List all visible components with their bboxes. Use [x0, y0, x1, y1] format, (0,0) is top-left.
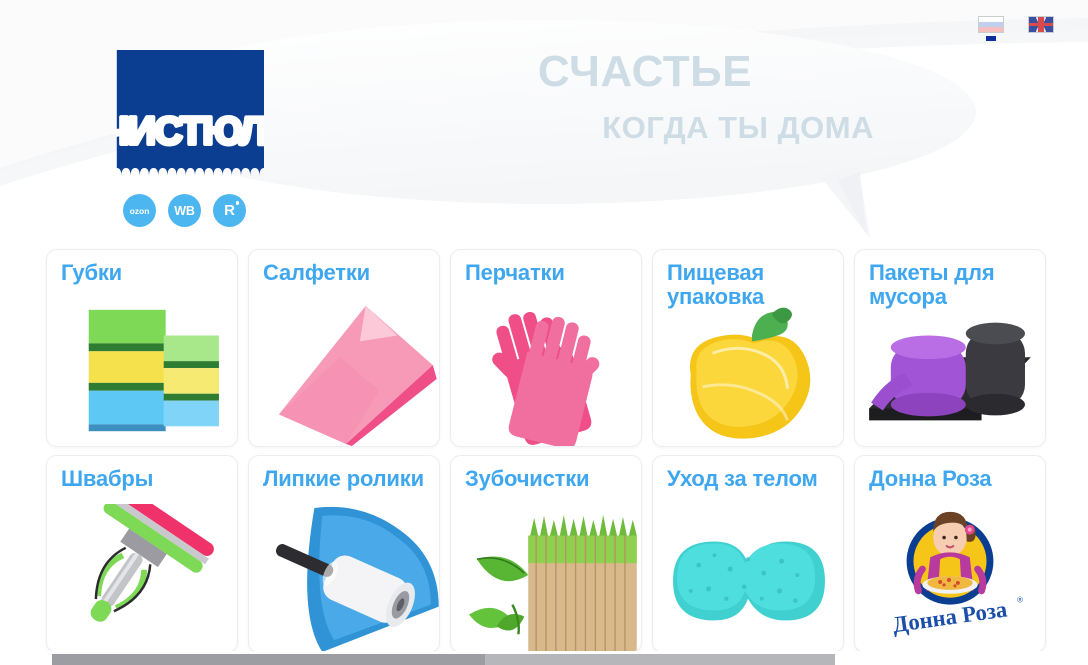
registered-mark: ®	[1017, 596, 1023, 605]
scrollbar-thumb[interactable]	[52, 654, 485, 665]
badge-wb-icon[interactable]: WB	[168, 194, 201, 227]
category-card-food-wrap[interactable]: Пищевая упаковка	[652, 249, 844, 447]
category-title: Зубочистки	[465, 467, 633, 491]
category-card-napkins[interactable]: Салфетки	[248, 249, 440, 447]
badge-r-letter: R	[224, 202, 235, 219]
category-title: Салфетки	[263, 261, 431, 285]
badge-ozon-icon[interactable]: ozon	[123, 194, 156, 227]
category-card-body-care[interactable]: Уход за телом	[652, 455, 844, 653]
category-image-pepper	[653, 298, 843, 446]
category-card-donna-rosa[interactable]: Донна Роза	[854, 455, 1046, 653]
category-title: Пакеты для мусора	[869, 261, 1037, 309]
category-image-donna-rosa-logo: Донна Роза ®	[855, 504, 1045, 652]
category-card-toothpicks[interactable]: Зубочистки	[450, 455, 642, 653]
category-card-lint-roller[interactable]: Липкие ролики	[248, 455, 440, 653]
flag-ru-icon[interactable]	[978, 16, 1004, 33]
category-title: Уход за телом	[667, 467, 835, 491]
page-root: ЧИСТЮЛЯ ozon WB R СЧАСТЬЕ КОГДА ТЫ ДОМА …	[0, 0, 1088, 665]
category-title: Липкие ролики	[263, 467, 431, 491]
category-card-gloves[interactable]: Перчатки	[450, 249, 642, 447]
logo-icon: ЧИСТЮЛЯ	[116, 50, 264, 186]
brand-logo-block[interactable]: ЧИСТЮЛЯ ozon WB R	[116, 50, 264, 227]
category-image-bodysponge	[653, 504, 843, 652]
active-language-indicator	[986, 36, 996, 41]
horizontal-scrollbar[interactable]	[0, 651, 1088, 665]
category-image-roller	[249, 504, 439, 652]
flag-gb-icon[interactable]	[1028, 16, 1054, 33]
category-card-trash-bags[interactable]: Пакеты для мусора	[854, 249, 1046, 447]
category-title: Губки	[61, 261, 229, 285]
badge-r-icon[interactable]: R	[213, 194, 246, 227]
category-image-sponges	[47, 298, 237, 446]
category-title: Перчатки	[465, 261, 633, 285]
category-card-sponges[interactable]: Губки	[46, 249, 238, 447]
category-image-gloves	[451, 298, 641, 446]
category-image-bags	[855, 298, 1045, 446]
marketplace-badges[interactable]: ozon WB R	[116, 194, 264, 227]
category-title: Пищевая упаковка	[667, 261, 835, 309]
badge-r-dot-icon	[236, 201, 240, 205]
category-title: Швабры	[61, 467, 229, 491]
logo-wordmark: ЧИСТЮЛЯ	[116, 110, 264, 153]
category-image-toothpicks	[451, 504, 641, 652]
category-image-napkins	[249, 298, 439, 446]
category-card-mops[interactable]: Швабры	[46, 455, 238, 653]
logo-card[interactable]: ЧИСТЮЛЯ	[116, 50, 264, 186]
language-switcher[interactable]	[978, 16, 1054, 33]
category-image-mop	[47, 504, 237, 652]
lang-option-ru[interactable]	[978, 16, 1004, 33]
category-title: Донна Роза	[869, 467, 1037, 491]
category-grid: Губки	[46, 249, 1046, 653]
